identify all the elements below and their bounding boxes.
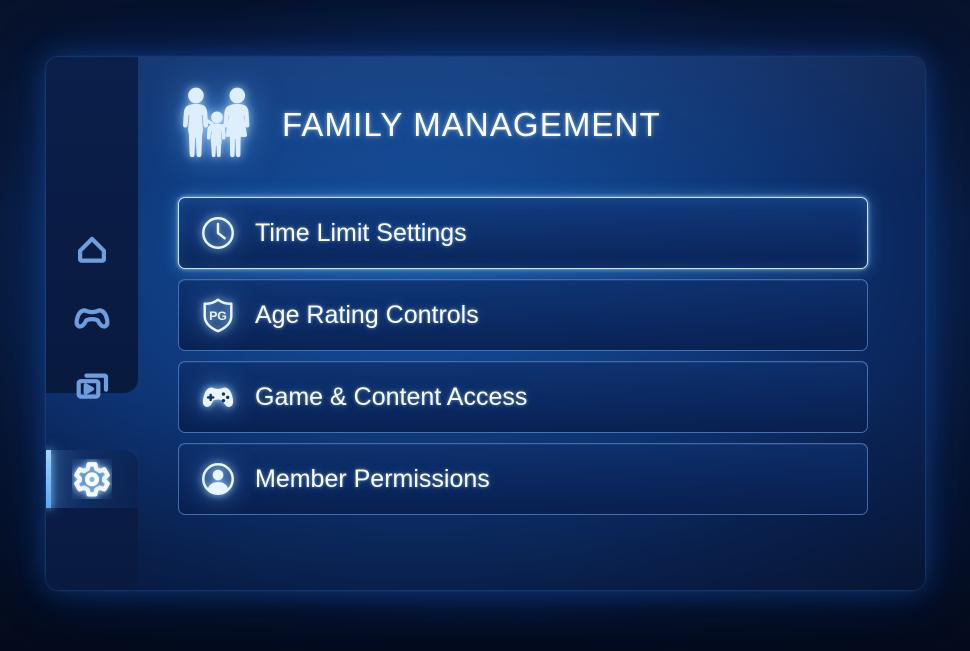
menu-item-age-rating-controls[interactable]: PG Age Rating Controls — [178, 279, 868, 351]
page-title: FAMILY MANAGEMENT — [282, 106, 661, 144]
media-icon — [71, 363, 113, 405]
person-icon — [197, 458, 239, 500]
content-area: FAMILY MANAGEMENT Time Limit Settings — [138, 57, 925, 590]
menu-item-time-limit-settings[interactable]: Time Limit Settings — [178, 197, 868, 269]
menu-item-label: Game & Content Access — [255, 383, 527, 412]
menu-item-label: Member Permissions — [255, 465, 490, 494]
gamepad-icon — [71, 295, 113, 337]
sidebar-item-home[interactable] — [46, 219, 138, 277]
app-screen: FAMILY MANAGEMENT Time Limit Settings — [0, 0, 970, 651]
gamepad-icon — [197, 376, 239, 418]
menu-item-game-content-access[interactable]: Game & Content Access — [178, 361, 868, 433]
pg-shield-icon: PG — [197, 294, 239, 336]
sidebar-item-settings[interactable] — [46, 450, 138, 508]
clock-icon — [197, 212, 239, 254]
sidebar-item-settings-inner — [46, 450, 138, 508]
sidebar — [46, 57, 138, 590]
menu-list: Time Limit Settings PG Age Rating Contro… — [178, 197, 868, 515]
menu-item-label: Age Rating Controls — [255, 301, 479, 330]
menu-item-label: Time Limit Settings — [255, 219, 467, 248]
menu-item-member-permissions[interactable]: Member Permissions — [178, 443, 868, 515]
gear-icon — [72, 459, 112, 499]
sidebar-item-media[interactable] — [46, 355, 138, 413]
home-icon — [71, 227, 113, 269]
family-icon — [178, 86, 256, 163]
main-panel: FAMILY MANAGEMENT Time Limit Settings — [46, 57, 925, 590]
sidebar-item-games[interactable] — [46, 287, 138, 345]
svg-text:PG: PG — [209, 309, 227, 323]
page-header: FAMILY MANAGEMENT — [178, 86, 661, 163]
